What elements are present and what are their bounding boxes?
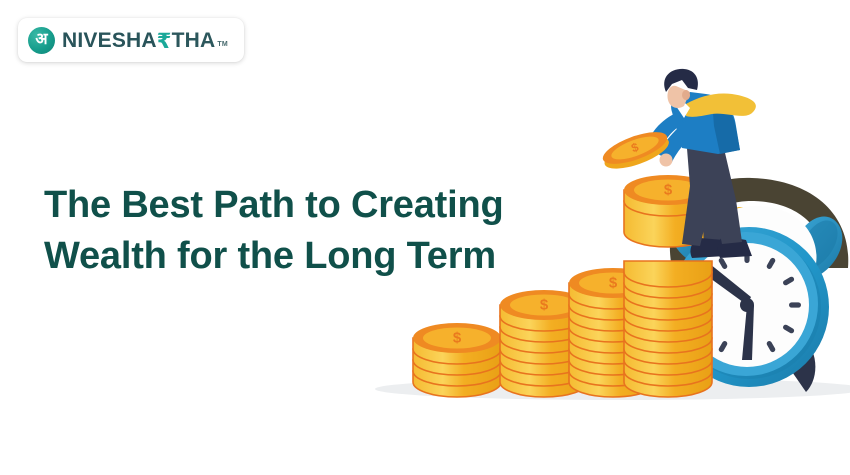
clock-hour-hand	[703, 264, 751, 305]
coin-stack-3	[569, 268, 657, 397]
brand-mark-icon: अ	[28, 27, 55, 54]
person-arm-back	[648, 112, 684, 150]
ground-shadow	[375, 378, 850, 400]
clock-bell-right-shade	[806, 221, 838, 270]
brand-wordmark: NIVESHA ₹ THA TM	[62, 28, 228, 53]
brand-logo-card[interactable]: अ NIVESHA ₹ THA TM	[18, 18, 244, 62]
coin-stack-4	[624, 175, 712, 397]
brand-name-part2: THA	[172, 29, 216, 53]
person-trousers	[682, 136, 742, 246]
clock-bell-left	[669, 204, 713, 258]
clock-bell-right	[790, 217, 842, 280]
person-collar	[676, 98, 690, 118]
clock-button-stem	[744, 224, 753, 244]
svg-text:$: $	[629, 140, 640, 156]
person-tie	[686, 93, 756, 116]
banner-root: अ NIVESHA ₹ THA TM The Best Path to Crea…	[0, 0, 850, 475]
person-shoe-back	[690, 238, 726, 258]
clock-hand-hub	[740, 298, 754, 312]
coin-stack-2	[500, 290, 588, 397]
person-hair	[664, 69, 698, 92]
clock-body-inner-shade	[677, 235, 821, 379]
clock-minute-hand	[742, 305, 754, 360]
brand-name-part1: NIVESHA	[62, 29, 157, 53]
held-coin: $	[599, 126, 672, 176]
page-title: The Best Path to Creating Wealth for the…	[44, 180, 564, 280]
person-head	[667, 86, 690, 108]
person-arm-front	[658, 118, 698, 162]
clock-foot-right	[788, 350, 815, 392]
trademark-mark: TM	[217, 41, 228, 48]
clock-body	[669, 227, 829, 387]
headline-line-2: Wealth for the Long Term	[44, 231, 564, 281]
person-hand-upper	[645, 140, 658, 153]
businessman-figure: $	[599, 69, 756, 258]
clock-ticks	[693, 251, 801, 359]
clock-top-button	[731, 207, 767, 227]
clock-bell-arc	[670, 178, 848, 268]
alarm-clock	[669, 178, 848, 394]
coin-stack-1	[413, 323, 501, 397]
person-shoe-front	[718, 236, 752, 258]
clock-face	[685, 243, 809, 367]
brand-mark-glyph: अ	[35, 31, 47, 47]
clock-foot-left	[680, 352, 708, 394]
rupee-symbol-icon: ₹	[157, 29, 172, 53]
person-jacket	[671, 92, 740, 154]
person-jacket-shade	[712, 100, 740, 154]
person-leg-back	[700, 178, 724, 246]
headline-line-1: The Best Path to Creating	[44, 184, 504, 226]
clock-cap	[700, 206, 817, 264]
person-ear	[682, 90, 690, 100]
clock-rim-highlight	[674, 232, 818, 376]
person-hand-lower	[660, 154, 673, 167]
